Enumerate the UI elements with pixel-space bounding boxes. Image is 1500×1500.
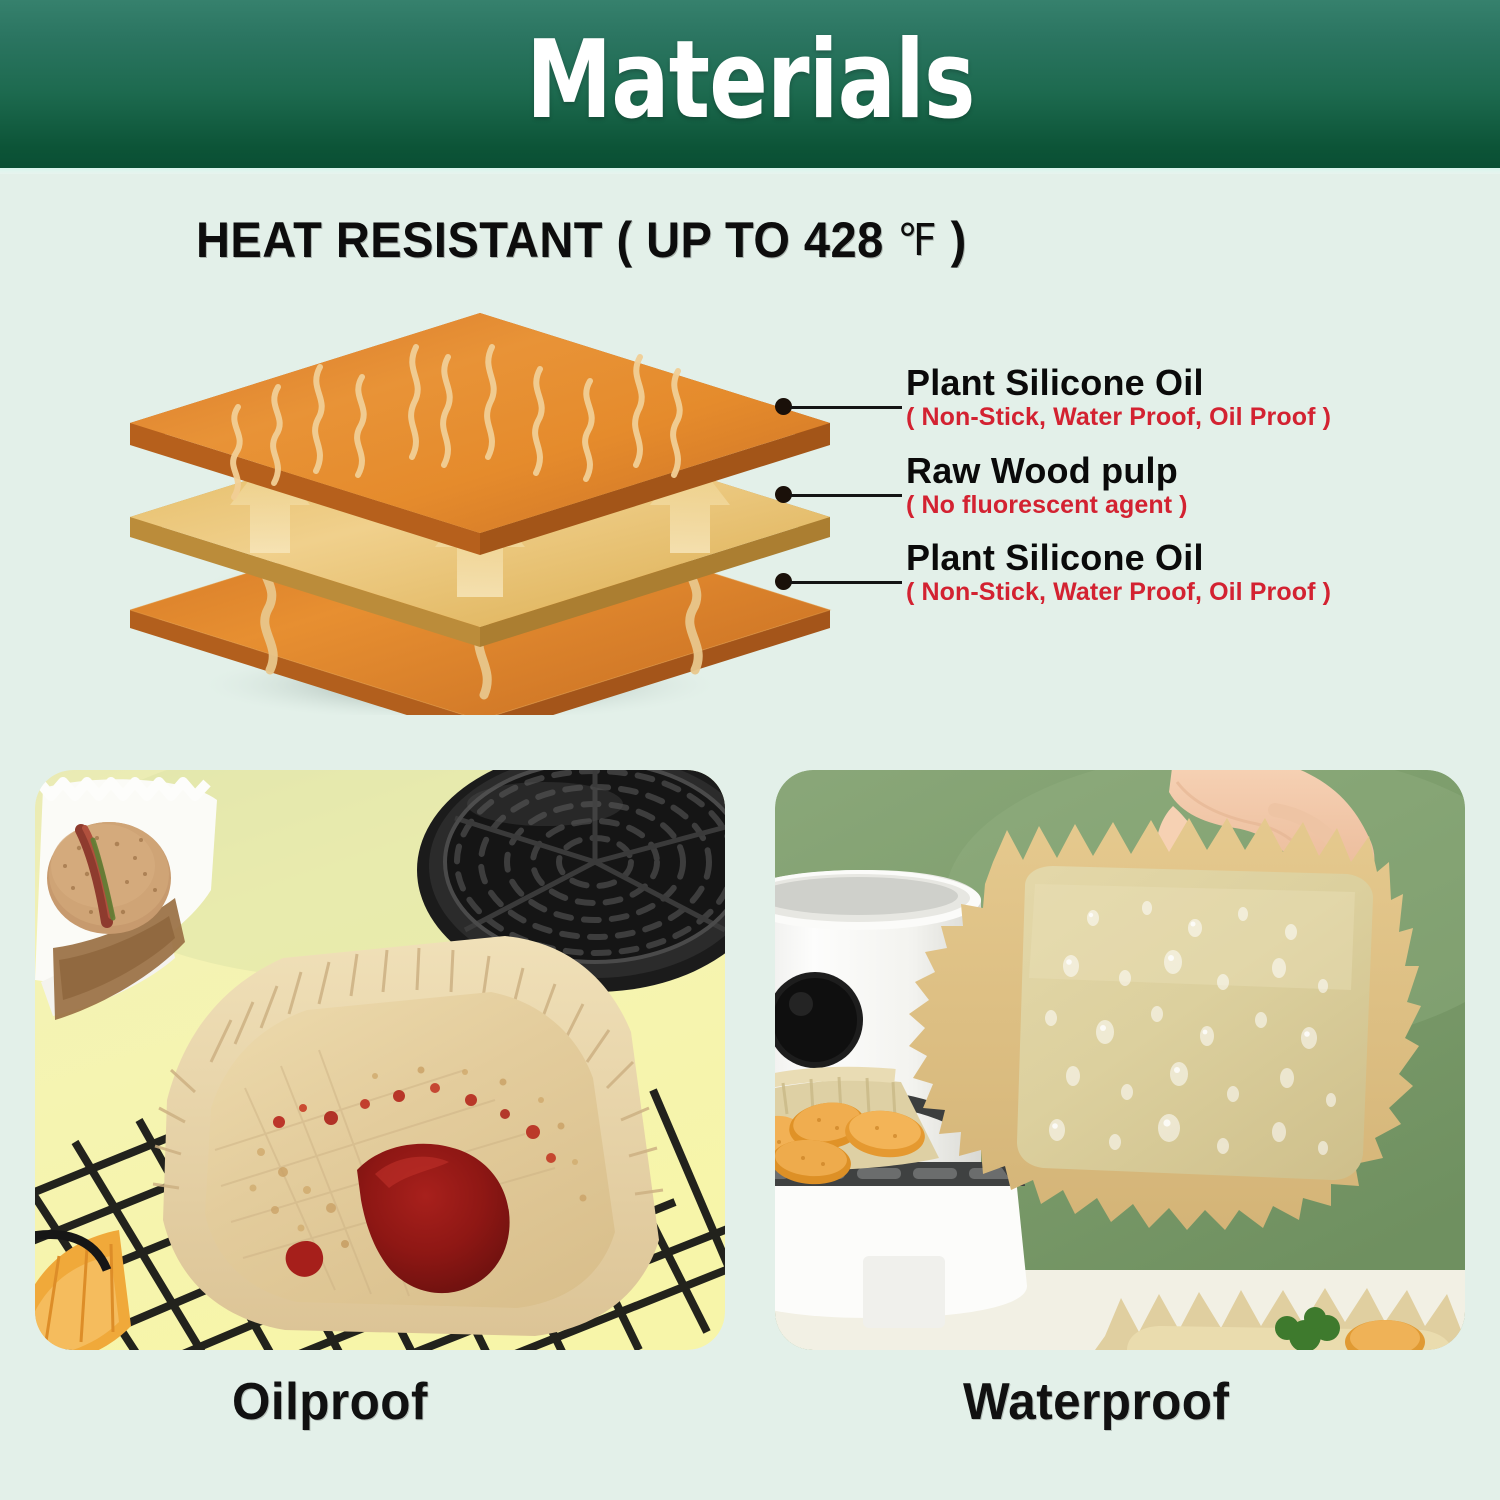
callout-layer-top-silicone: Plant Silicone Oil ( Non-Stick, Water Pr… xyxy=(906,364,1331,431)
photo-oilproof xyxy=(35,770,725,1350)
header-underline xyxy=(0,168,1500,174)
callout-subtitle: ( Non-Stick, Water Proof, Oil Proof ) xyxy=(906,578,1331,606)
callout-title: Plant Silicone Oil xyxy=(906,364,1331,401)
paper-liner-oilproof xyxy=(153,936,663,1336)
callout-layer-bottom-silicone: Plant Silicone Oil ( Non-Stick, Water Pr… xyxy=(906,539,1331,606)
heat-resistant-heading: HEAT RESISTANT ( UP TO 428 ℉ ) xyxy=(196,211,967,269)
caption-waterproof: Waterproof xyxy=(963,1372,1229,1432)
leader-line-layer-0 xyxy=(790,406,902,409)
callout-subtitle: ( No fluorescent agent ) xyxy=(906,491,1188,519)
callout-layer-middle-pulp: Raw Wood pulp ( No fluorescent agent ) xyxy=(906,452,1188,519)
heat-heading-suffix: ) xyxy=(937,212,967,268)
degree-fahrenheit-icon: ℉ xyxy=(897,216,937,265)
caption-oilproof: Oilproof xyxy=(232,1372,428,1432)
callout-title: Raw Wood pulp xyxy=(906,452,1188,489)
callout-subtitle: ( Non-Stick, Water Proof, Oil Proof ) xyxy=(906,403,1331,431)
callout-title: Plant Silicone Oil xyxy=(906,539,1331,576)
leader-line-layer-1 xyxy=(790,494,902,497)
page-header: Materials xyxy=(0,0,1500,168)
page-title: Materials xyxy=(526,27,975,141)
heat-heading-prefix: HEAT RESISTANT ( UP TO 428 xyxy=(196,212,897,268)
photo-waterproof xyxy=(775,770,1465,1350)
layer-structure-diagram xyxy=(130,285,890,715)
leader-line-layer-2 xyxy=(790,581,902,584)
